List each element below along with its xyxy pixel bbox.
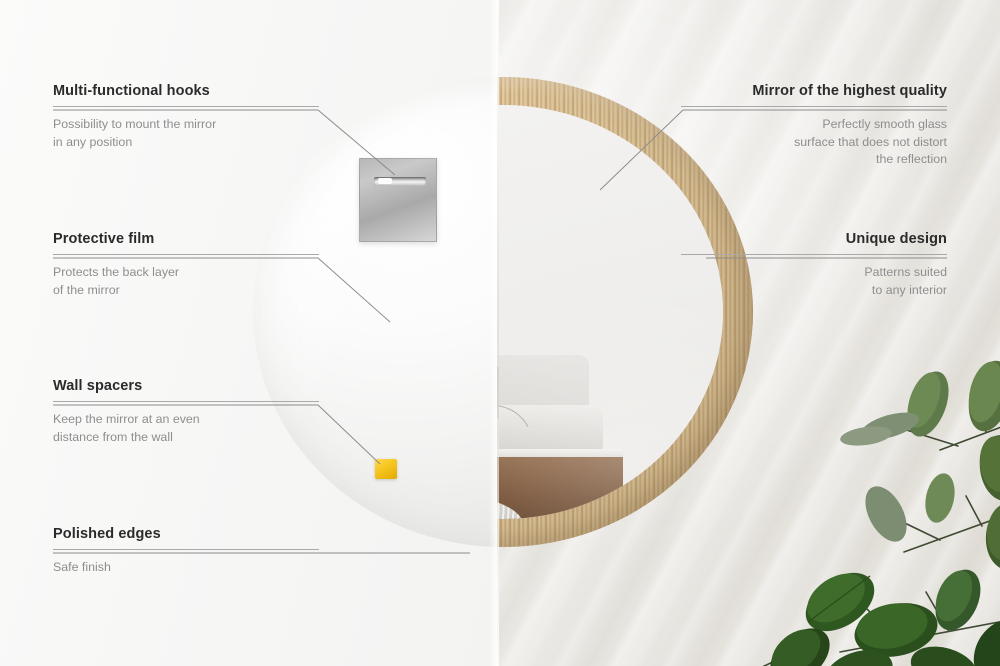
callout-wall-spacers: Wall spacers Keep the mirror at an even … <box>53 378 319 446</box>
callout-description: Possibility to mount the mirror in any p… <box>53 116 319 151</box>
callout-title: Unique design <box>681 231 947 247</box>
callout-unique-design: Unique design Patterns suited to any int… <box>681 231 947 299</box>
callout-polished-edges: Polished edges Safe finish <box>53 526 319 577</box>
callout-mirror-of-the-highest-quality: Mirror of the highest quality Perfectly … <box>681 83 947 169</box>
callout-description: Patterns suited to any interior <box>681 264 947 299</box>
callout-title: Wall spacers <box>53 378 319 394</box>
mounting-hook-plate <box>359 158 437 242</box>
callout-description: Protects the back layer of the mirror <box>53 264 319 299</box>
wall-spacer-block <box>375 459 397 479</box>
callout-rule <box>681 106 947 107</box>
round-mirror <box>253 77 753 547</box>
callout-description: Safe finish <box>53 559 319 577</box>
callout-description: Perfectly smooth glass surface that does… <box>681 116 947 169</box>
callout-title: Protective film <box>53 231 319 247</box>
callout-rule <box>53 254 319 255</box>
callout-rule <box>53 549 319 550</box>
scene-seam-divider <box>497 0 499 666</box>
callout-title: Multi-functional hooks <box>53 83 319 99</box>
callout-protective-film: Protective film Protects the back layer … <box>53 231 319 299</box>
callout-title: Mirror of the highest quality <box>681 83 947 99</box>
callout-multi-functional-hooks: Multi-functional hooks Possibility to mo… <box>53 83 319 151</box>
callout-title: Polished edges <box>53 526 319 542</box>
hook-slot <box>374 177 426 186</box>
callout-rule <box>53 401 319 402</box>
callout-rule <box>681 254 947 255</box>
scene-seam-glow <box>489 0 497 666</box>
callout-description: Keep the mirror at an even distance from… <box>53 411 319 446</box>
product-infographic: Multi-functional hooks Possibility to mo… <box>0 0 1000 666</box>
callout-rule <box>53 106 319 107</box>
